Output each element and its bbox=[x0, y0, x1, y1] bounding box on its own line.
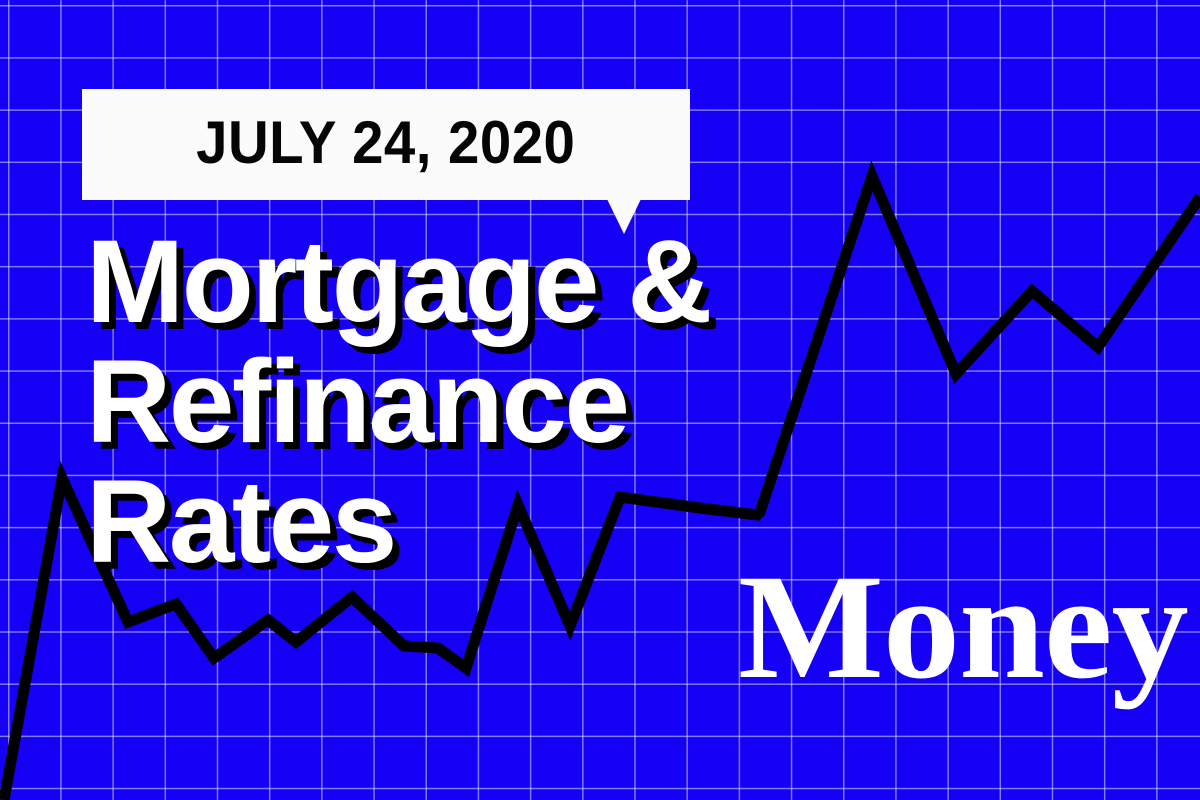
promo-graphic-canvas: JULY 24, 2020 Mortgage & Refinance Rates… bbox=[0, 0, 1200, 800]
headline-line-1: Mortgage & bbox=[86, 222, 886, 342]
date-banner: JULY 24, 2020 bbox=[82, 89, 690, 200]
headline: Mortgage & Refinance Rates bbox=[86, 222, 886, 582]
headline-line-2: Refinance bbox=[86, 342, 886, 462]
money-logo: Money bbox=[738, 552, 1188, 702]
date-label: JULY 24, 2020 bbox=[196, 113, 575, 176]
